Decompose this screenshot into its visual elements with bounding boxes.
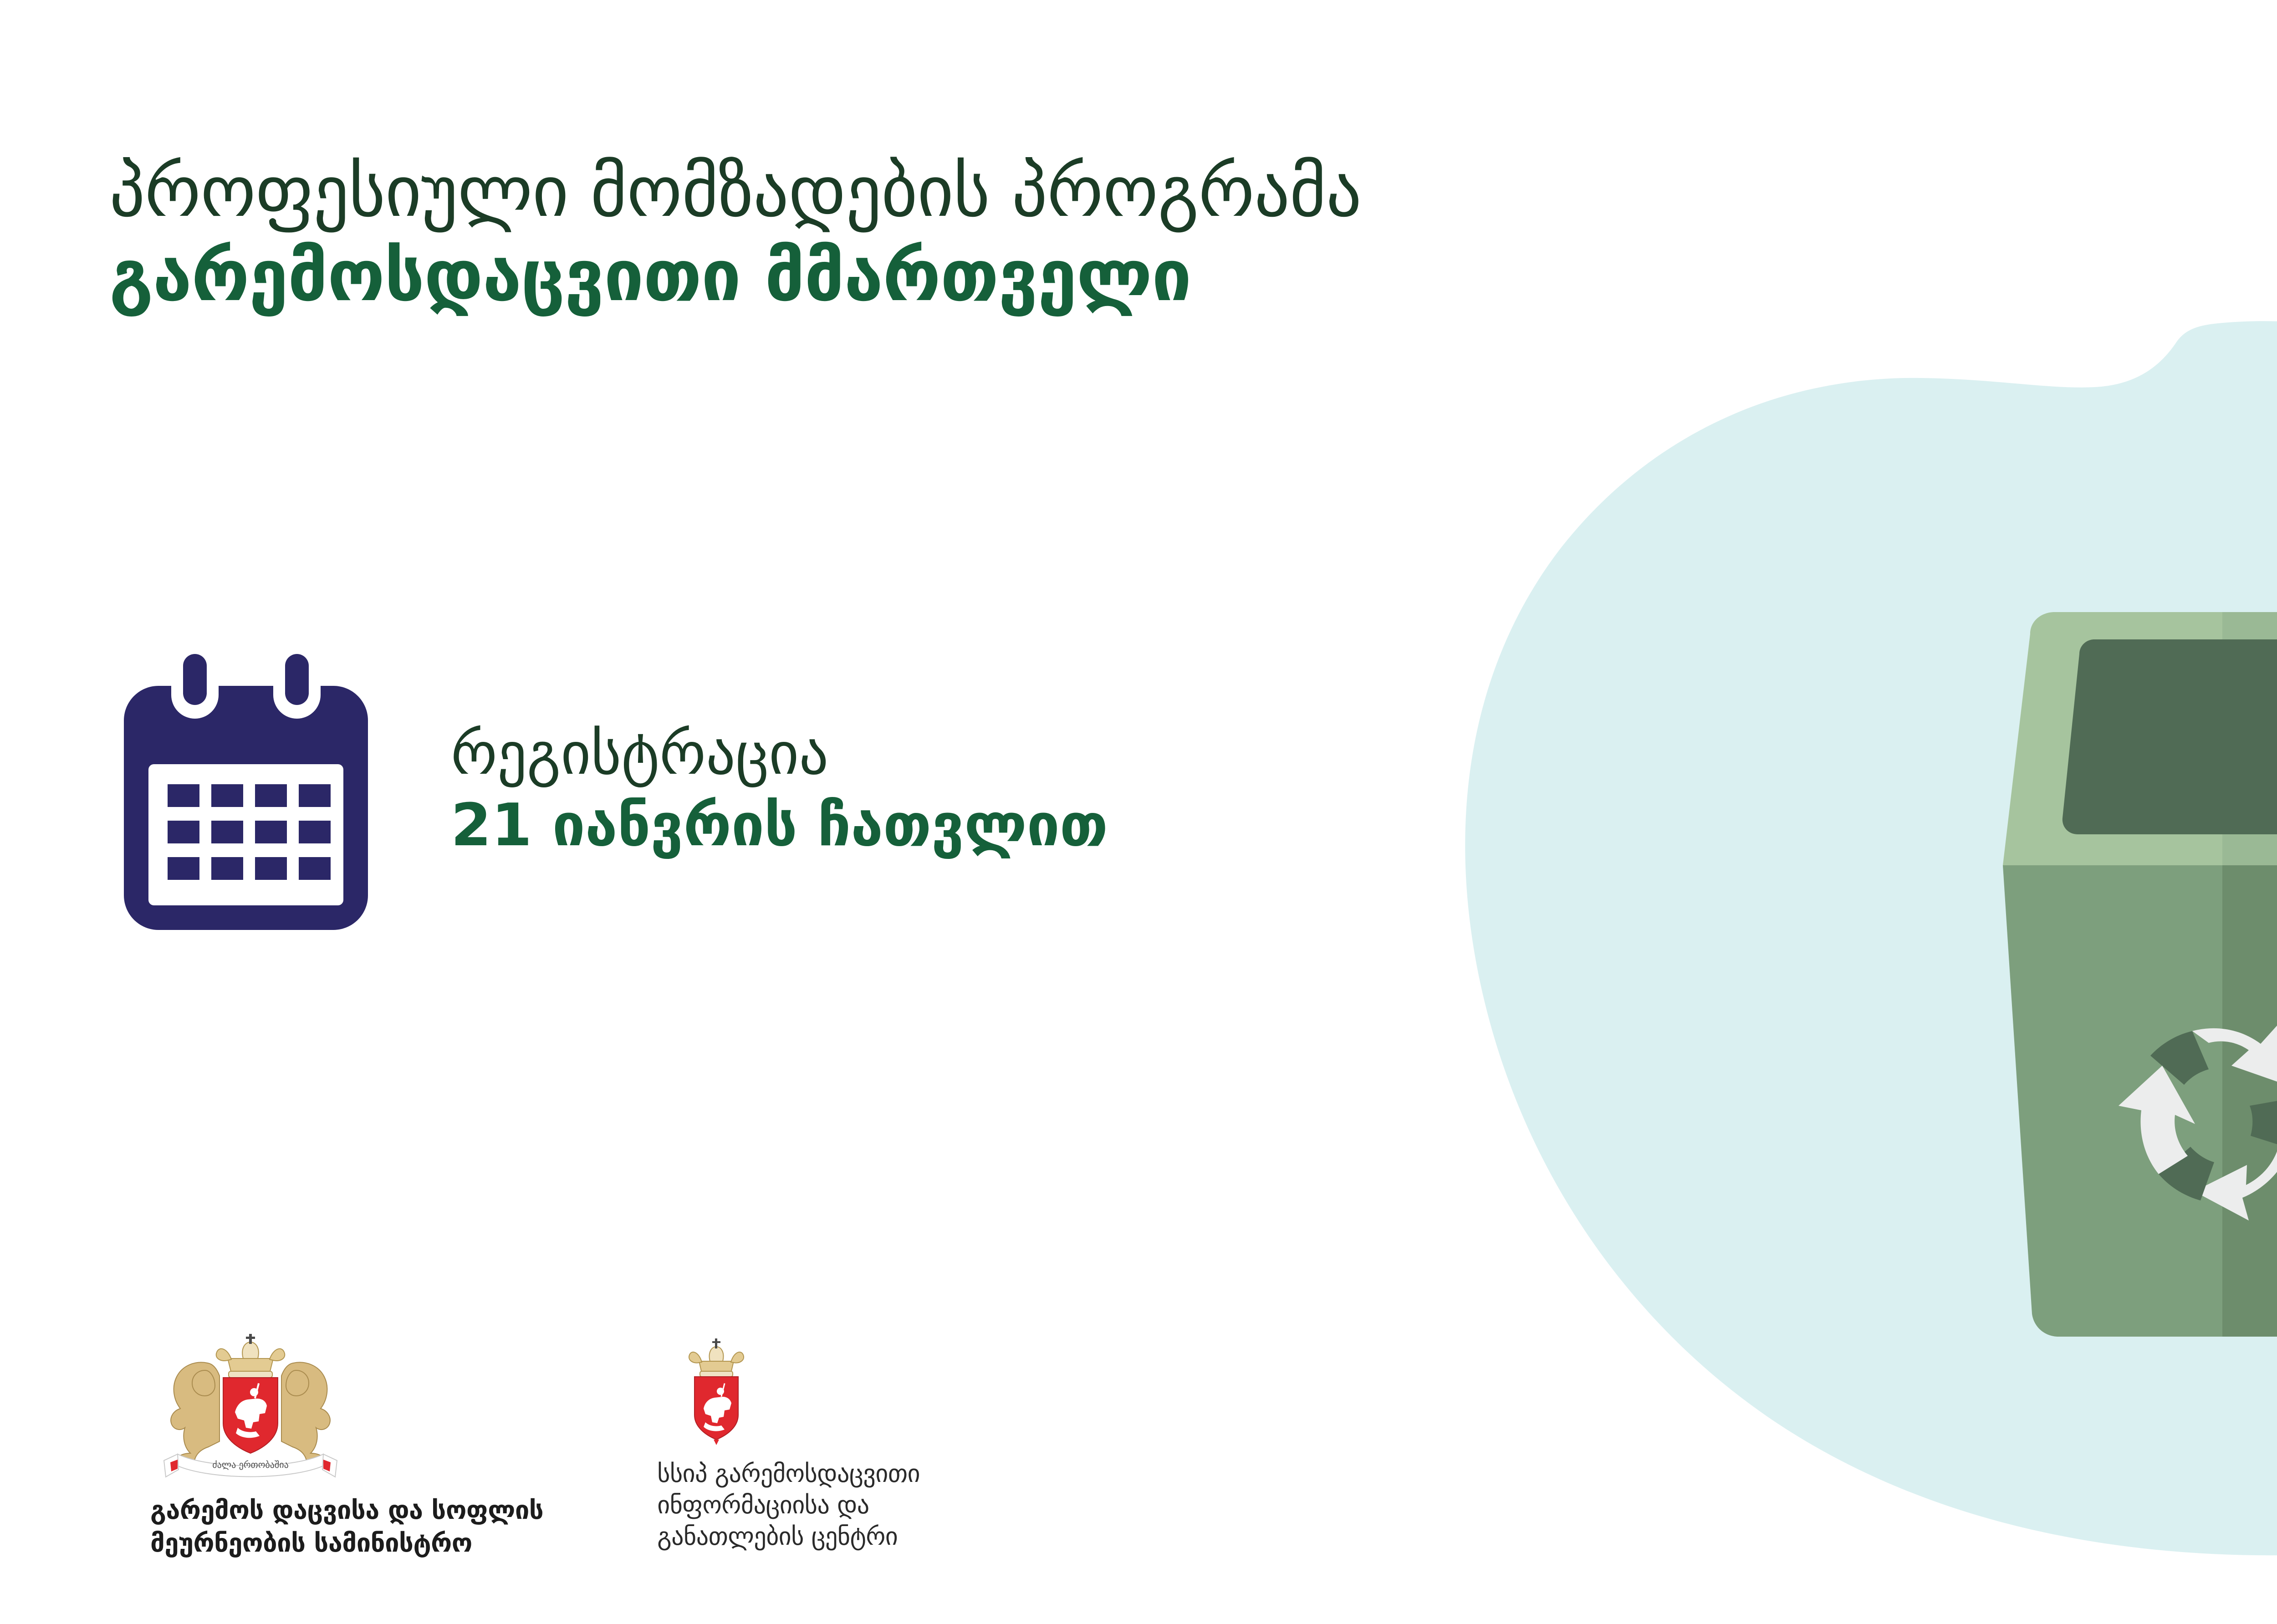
registration-label: რეგისტრაცია bbox=[451, 719, 1108, 790]
ministry-caption-line-2: მეურნეობის სამინისტრო bbox=[150, 1527, 543, 1560]
center-caption-line-3: განათლების ცენტრი bbox=[657, 1521, 920, 1552]
program-type-title: პროფესიული მომზადების პროგრამა bbox=[109, 150, 2022, 234]
georgia-coat-of-arms-emblem: ძალა ერთობაშია bbox=[150, 1332, 351, 1482]
headline-block: პროფესიული მომზადების პროგრამა გარემოსდა… bbox=[109, 150, 2022, 318]
center-logo-block: სსიპ გარემოსდაცვითი ინფორმაციისა და განა… bbox=[657, 1332, 920, 1552]
registration-deadline: 21 იანვრის ჩათვლით bbox=[451, 790, 1108, 862]
center-caption: სსიპ გარემოსდაცვითი ინფორმაციისა და განა… bbox=[657, 1458, 920, 1552]
footer-logos: ძალა ერთობაშია გარემოს დაცვისა და სოფლის… bbox=[150, 1332, 920, 1559]
ministry-caption-line-1: გარემოს დაცვისა და სოფლის bbox=[150, 1494, 543, 1527]
registration-row: რეგისტრაცია 21 იანვრის ჩათვლით bbox=[114, 651, 1108, 934]
recycling-bin-illustration bbox=[1990, 610, 2277, 1343]
ministry-logo-block: ძალა ერთობაშია გარემოს დაცვისა და სოფლის… bbox=[150, 1332, 543, 1559]
calendar-icon bbox=[114, 651, 378, 934]
center-caption-line-2: ინფორმაციისა და bbox=[657, 1489, 920, 1521]
ministry-caption: გარემოს დაცვისა და სოფლის მეურნეობის სამ… bbox=[150, 1494, 543, 1559]
georgia-crowned-shield-emblem bbox=[657, 1332, 776, 1446]
coat-of-arms-motto: ძალა ერთობაშია bbox=[212, 1459, 289, 1470]
center-caption-line-1: სსიპ გარემოსდაცვითი bbox=[657, 1458, 920, 1489]
registration-text-block: რეგისტრაცია 21 იანვრის ჩათვლით bbox=[451, 719, 1108, 867]
illustration-area bbox=[1448, 291, 2277, 1567]
program-name-title: გარემოსდაცვითი მმართველი bbox=[109, 234, 2022, 318]
